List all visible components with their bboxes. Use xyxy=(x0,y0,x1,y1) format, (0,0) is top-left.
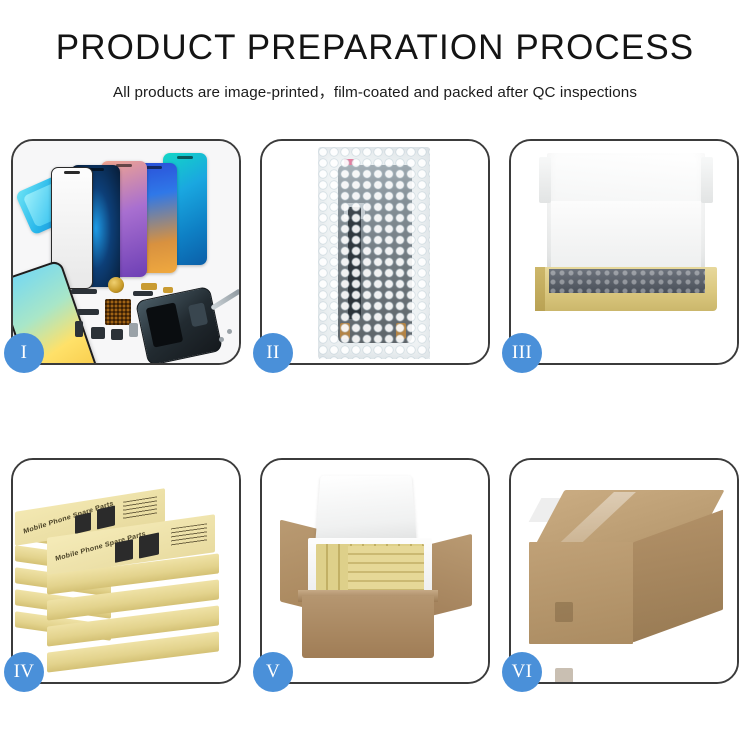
step-badge-3: III xyxy=(502,333,542,373)
box-spec-lines xyxy=(171,523,207,547)
sealed-carton xyxy=(529,490,723,648)
tweezers-icon xyxy=(210,288,239,310)
carton-seam-icon xyxy=(555,602,573,622)
step-2-image xyxy=(262,141,488,363)
page-title: PRODUCT PREPARATION PROCESS xyxy=(0,30,750,67)
box-product-thumbnail xyxy=(97,505,115,529)
phone-notch-icon xyxy=(177,156,193,159)
step-4-image: Mobile Phone Spare Parts Mobile Phone Sp… xyxy=(13,460,239,682)
step-badge-4: IV xyxy=(4,652,44,692)
process-step-panel-2: II xyxy=(260,139,490,365)
foam-lid xyxy=(315,476,417,545)
phone-chassis-icon xyxy=(135,286,223,363)
bubble-wrap-bag xyxy=(318,147,430,359)
phone-notch-icon xyxy=(146,166,162,169)
sim-tray-icon xyxy=(129,323,138,337)
process-steps-grid: I II III xyxy=(11,139,739,684)
small-part-icon xyxy=(75,321,83,337)
screw-icon xyxy=(227,329,232,334)
step-badge-6: VI xyxy=(502,652,542,692)
box-product-thumbnail xyxy=(139,532,159,558)
bubble-wrapped-product xyxy=(549,269,705,293)
camera-module-icon xyxy=(111,329,123,340)
process-step-panel-3: III xyxy=(509,139,739,365)
connector-icon xyxy=(163,287,173,293)
box-product-thumbnail xyxy=(115,539,133,563)
antenna-flex-icon xyxy=(133,291,153,296)
box-product-thumbnail xyxy=(75,512,91,534)
vibration-motor-icon xyxy=(108,277,124,293)
box-stack: Mobile Phone Spare Parts Mobile Phone Sp… xyxy=(13,486,239,676)
ic-chip-icon xyxy=(105,299,131,325)
speaker-icon xyxy=(91,327,105,339)
phone-notch-icon xyxy=(64,171,80,174)
box-tray-left-wall xyxy=(535,267,545,311)
process-step-panel-4: Mobile Phone Spare Parts Mobile Phone Sp… xyxy=(11,458,241,684)
page-header: PRODUCT PREPARATION PROCESS All products… xyxy=(0,0,750,102)
step-3-image xyxy=(511,141,737,363)
bubble-texture xyxy=(318,147,430,359)
page-subtitle: All products are image-printed，film-coat… xyxy=(0,80,750,102)
earpiece-mesh-icon xyxy=(71,289,97,294)
flex-cable-icon xyxy=(141,283,157,290)
process-step-panel-5: V xyxy=(260,458,490,684)
step-badge-1: I xyxy=(4,333,44,373)
box-spec-lines xyxy=(123,496,157,519)
step-badge-5: V xyxy=(253,652,293,692)
process-step-panel-1: I xyxy=(11,139,241,365)
carton-front-face xyxy=(529,542,633,644)
button-flex-icon xyxy=(77,309,99,315)
process-step-panel-6: VI xyxy=(509,458,739,684)
step-1-image xyxy=(13,141,239,363)
carton-body xyxy=(302,596,434,658)
screw-icon xyxy=(219,337,224,342)
foam-insert xyxy=(551,201,701,269)
step-6-image xyxy=(511,460,737,682)
yellow-boxes-inside xyxy=(348,546,424,590)
carton-seam-icon xyxy=(555,668,573,682)
step-badge-2: II xyxy=(253,333,293,373)
step-5-image xyxy=(262,460,488,682)
